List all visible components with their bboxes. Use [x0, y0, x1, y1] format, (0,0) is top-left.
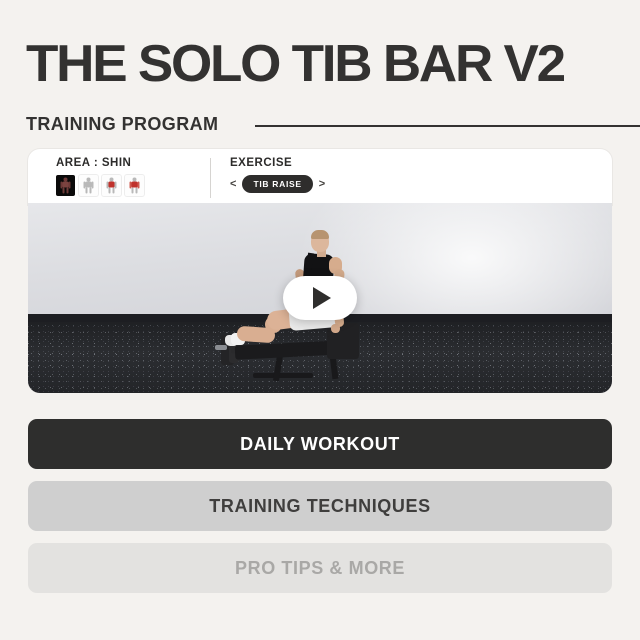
training-techniques-button[interactable]: TRAINING TECHNIQUES	[28, 481, 612, 531]
page-subtitle: TRAINING PROGRAM	[26, 114, 218, 135]
pro-tips-button[interactable]: PRO TIPS & MORE	[28, 543, 612, 593]
body-figure-icon	[129, 177, 140, 194]
exercise-navigation: < TIB RAISE >	[230, 175, 325, 193]
area-thumbnail-list	[56, 175, 144, 196]
bar-sleeve	[215, 345, 227, 350]
exercise-video-player[interactable]	[28, 203, 612, 393]
daily-workout-button[interactable]: DAILY WORKOUT	[28, 419, 612, 469]
area-section: AREA : SHIN	[56, 157, 144, 196]
previous-exercise-icon[interactable]: <	[230, 179, 236, 190]
page-header: THE SOLO TIB BAR V2 TRAINING PROGRAM	[0, 0, 640, 140]
page-title: THE SOLO TIB BAR V2	[26, 38, 564, 90]
body-figure-icon	[83, 177, 94, 194]
body-diagram-upper-thumbnail[interactable]	[125, 175, 144, 196]
current-exercise-pill[interactable]: TIB RAISE	[242, 175, 312, 193]
play-triangle	[313, 287, 331, 309]
play-icon[interactable]	[283, 276, 357, 320]
bench-foot-rail	[253, 373, 313, 378]
area-label: AREA : SHIN	[56, 157, 144, 169]
subtitle-row: TRAINING PROGRAM	[26, 114, 630, 136]
body-diagram-full-thumbnail[interactable]	[79, 175, 98, 196]
body-figure-icon	[60, 177, 71, 194]
panel-divider	[210, 158, 211, 198]
exercise-section: EXERCISE < TIB RAISE >	[230, 157, 325, 193]
next-exercise-icon[interactable]: >	[319, 179, 325, 190]
header-divider-rule	[255, 125, 640, 127]
athlete-right-hand	[331, 324, 340, 333]
athlete-hair	[311, 230, 329, 239]
body-figure-icon	[106, 177, 117, 194]
body-diagram-shin-thumbnail[interactable]	[56, 175, 75, 196]
exercise-control-panel: AREA : SHIN	[28, 149, 612, 205]
exercise-label: EXERCISE	[230, 157, 325, 169]
body-diagram-torso-thumbnail[interactable]	[102, 175, 121, 196]
